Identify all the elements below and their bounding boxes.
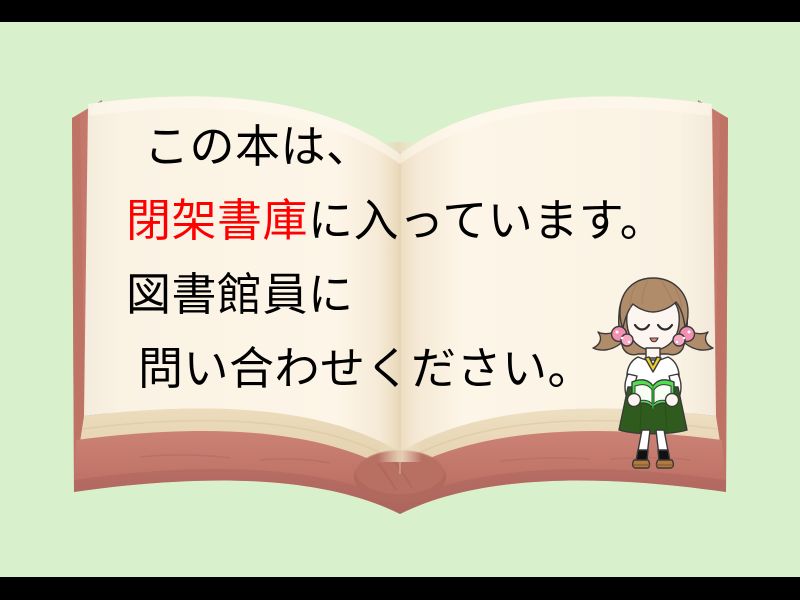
message-line-1: この本は、 <box>126 110 686 184</box>
slide-canvas: この本は、 閉架書庫に入っています。 図書館員に 問い合わせください。 <box>0 22 800 577</box>
slide-stage: この本は、 閉架書庫に入っています。 図書館員に 問い合わせください。 <box>0 0 800 600</box>
letterbox-top <box>0 0 800 22</box>
hand-left <box>628 394 641 407</box>
closed-stacks-keyword: 閉架書庫 <box>126 194 308 247</box>
shoe-right <box>657 460 674 468</box>
girl-reading-illustration <box>592 270 714 470</box>
message-line-2-rest: に入っています。 <box>308 194 665 247</box>
message-line-2: 閉架書庫に入っています。 <box>126 184 686 258</box>
hand-right <box>666 394 679 407</box>
letterbox-bottom <box>0 577 800 600</box>
shoe-left <box>633 460 650 468</box>
neck <box>646 348 660 358</box>
